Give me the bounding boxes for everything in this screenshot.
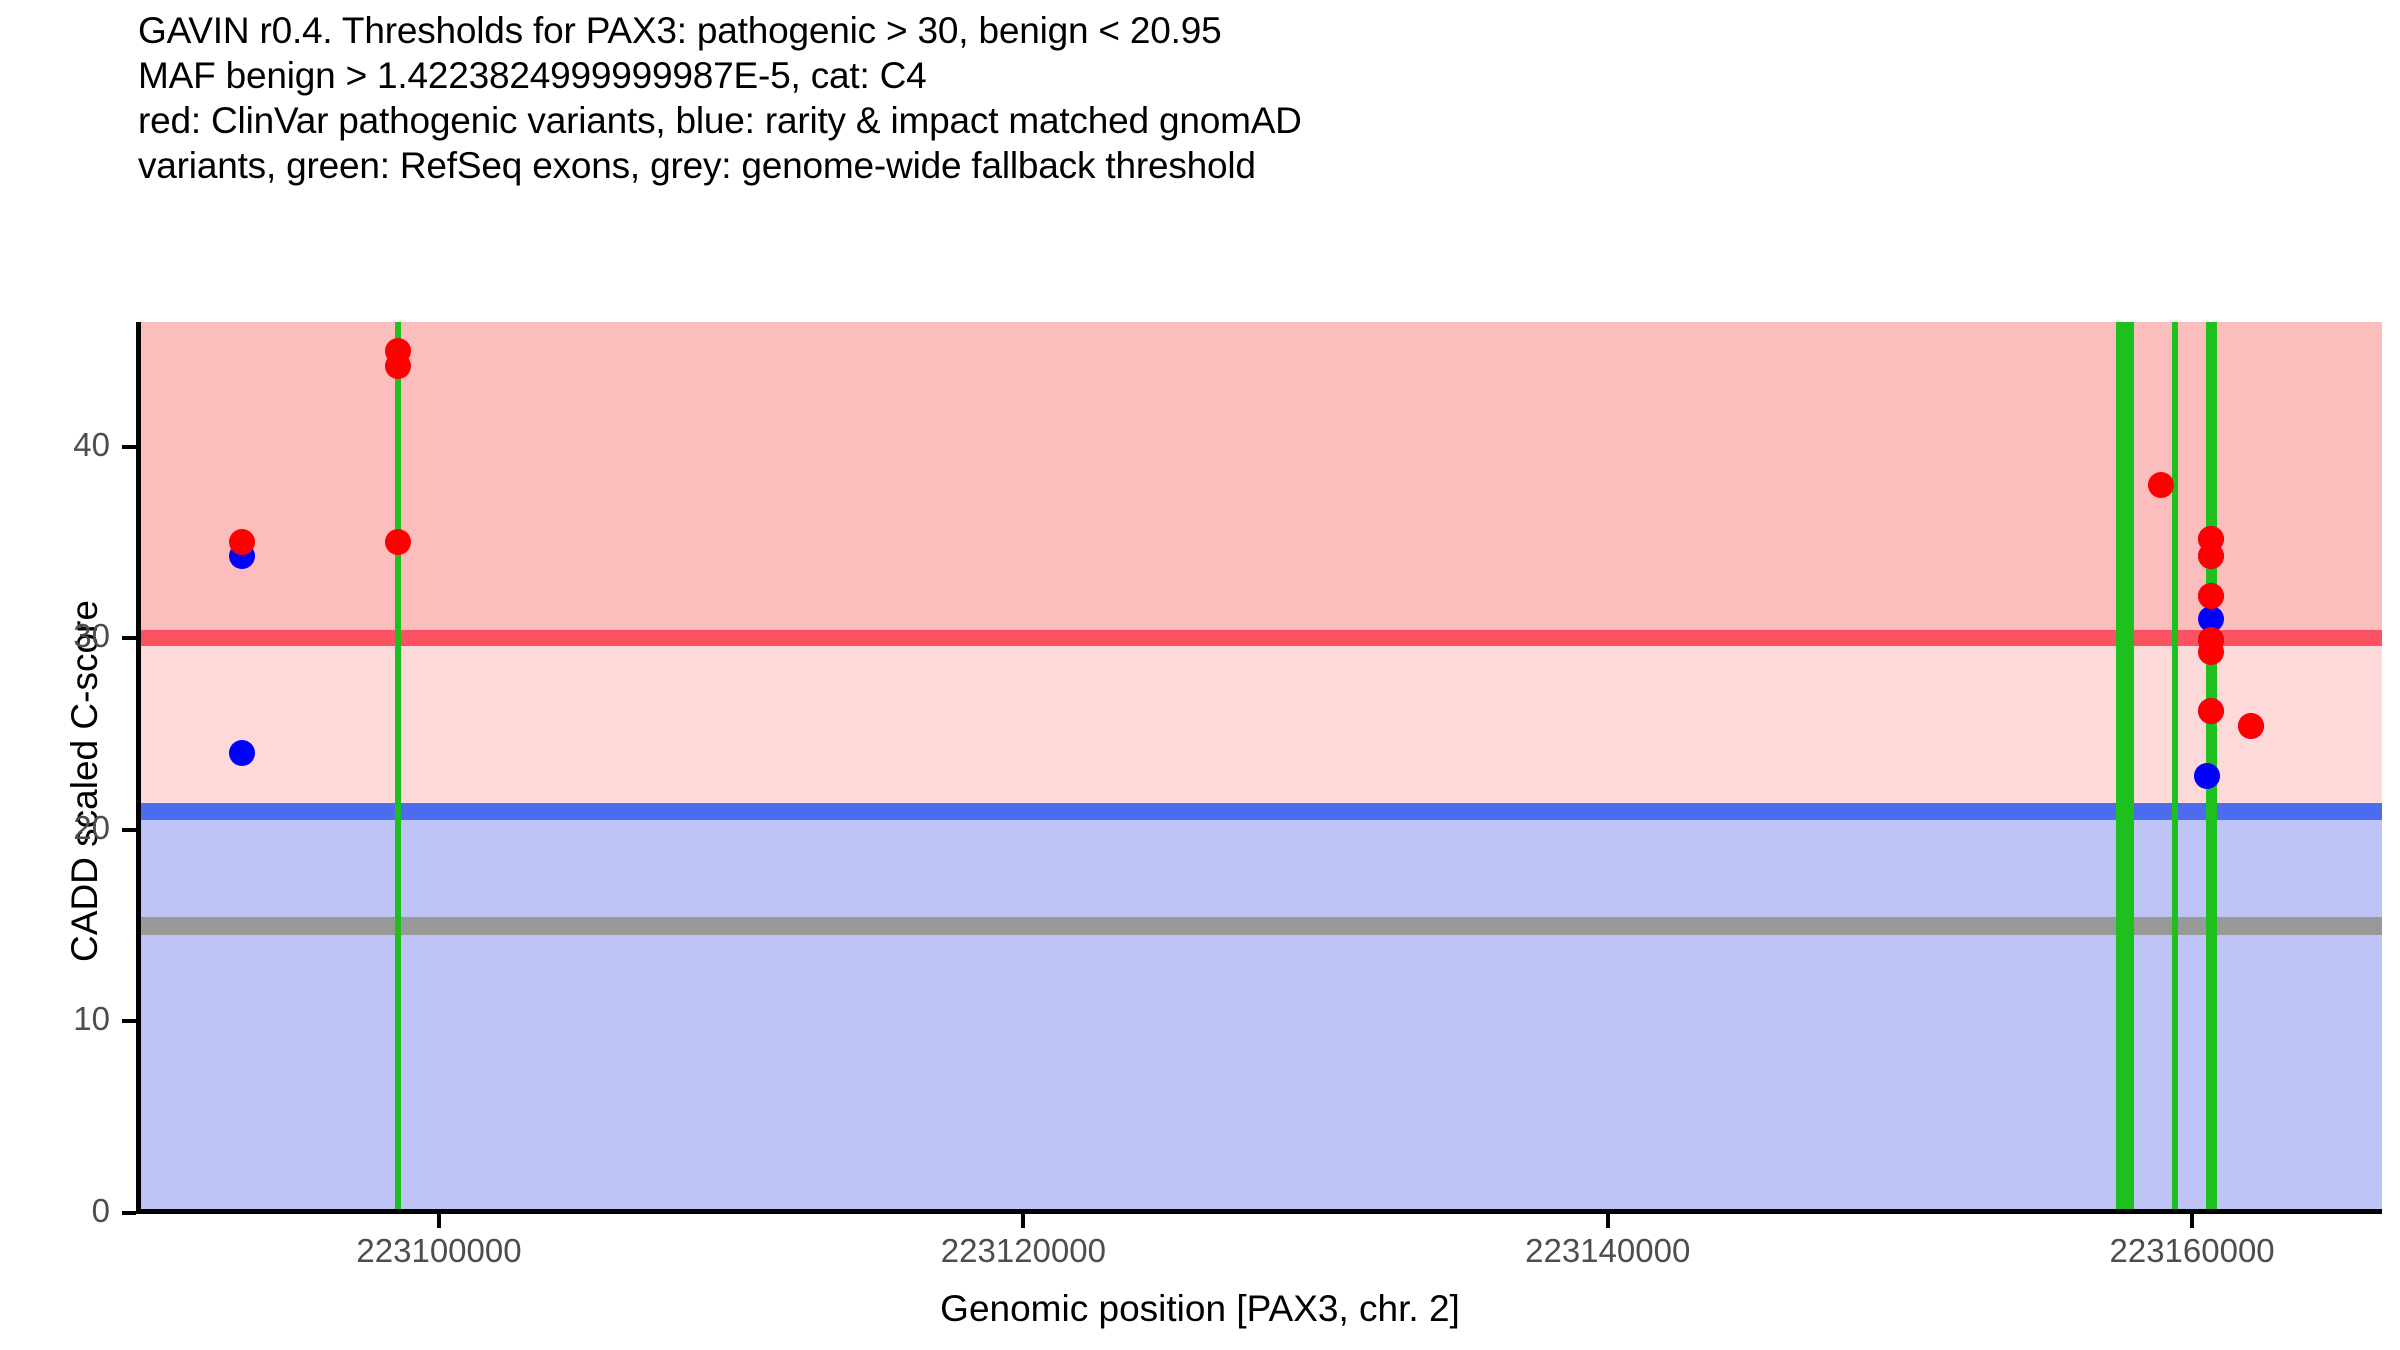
title-line-2: MAF benign > 1.4223824999999987E-5, cat:… bbox=[138, 53, 2238, 98]
y-axis-tick-label: 20 bbox=[0, 809, 110, 847]
y-axis-tick bbox=[122, 445, 136, 449]
title-line-4: variants, green: RefSeq exons, grey: gen… bbox=[138, 143, 2238, 188]
y-axis-tick-label: 10 bbox=[0, 1000, 110, 1038]
x-axis-tick-label: 223160000 bbox=[2012, 1232, 2372, 1270]
x-axis-tick bbox=[1021, 1214, 1025, 1228]
x-axis-tick bbox=[1606, 1214, 1610, 1228]
x-axis-title: Genomic position [PAX3, chr. 2] bbox=[0, 1288, 2400, 1330]
x-axis-tick-label: 223140000 bbox=[1428, 1232, 1788, 1270]
exon-2 bbox=[2116, 322, 2134, 1213]
intermediate-zone bbox=[141, 638, 2382, 811]
y-axis-spine bbox=[136, 322, 141, 1214]
y-axis-tick-label: 30 bbox=[0, 617, 110, 655]
y-axis-title: CADD scaled C-score bbox=[64, 341, 106, 1221]
plot-panel bbox=[141, 322, 2382, 1213]
pathogenic-variant-point bbox=[2198, 639, 2224, 665]
pathogenic-variant-point bbox=[2198, 543, 2224, 569]
x-axis-tick-label: 223120000 bbox=[843, 1232, 1203, 1270]
pathogenic-variant-point bbox=[229, 529, 255, 555]
gnomad-variant-point bbox=[229, 740, 255, 766]
y-axis-tick bbox=[122, 636, 136, 640]
exon-3 bbox=[2172, 322, 2178, 1213]
genome-wide-fallback-threshold bbox=[141, 917, 2382, 935]
y-axis-tick bbox=[122, 1019, 136, 1023]
y-axis-tick bbox=[122, 828, 136, 832]
x-axis-tick-label: 223100000 bbox=[259, 1232, 619, 1270]
pathogenic-variant-point bbox=[2238, 713, 2264, 739]
x-axis-tick bbox=[2190, 1214, 2194, 1228]
gnomad-variant-point bbox=[2194, 763, 2220, 789]
pathogenic-zone bbox=[141, 322, 2382, 631]
plot-title-block: GAVIN r0.4. Thresholds for PAX3: pathoge… bbox=[138, 8, 2238, 188]
y-axis-tick bbox=[122, 1211, 136, 1215]
pathogenic-threshold bbox=[141, 630, 2382, 646]
plot-root: GAVIN r0.4. Thresholds for PAX3: pathoge… bbox=[0, 0, 2400, 1350]
title-line-1: GAVIN r0.4. Thresholds for PAX3: pathoge… bbox=[138, 8, 2238, 53]
x-axis-tick bbox=[437, 1214, 441, 1228]
benign-threshold bbox=[141, 803, 2382, 820]
title-line-3: red: ClinVar pathogenic variants, blue: … bbox=[138, 98, 2238, 143]
benign-zone bbox=[141, 813, 2382, 1213]
pathogenic-variant-point bbox=[2198, 583, 2224, 609]
pathogenic-variant-point bbox=[385, 353, 411, 379]
y-axis-tick-label: 0 bbox=[0, 1192, 110, 1230]
x-axis-spine bbox=[136, 1209, 2382, 1214]
pathogenic-variant-point bbox=[2198, 698, 2224, 724]
exon-1 bbox=[395, 322, 401, 1213]
y-axis-tick-label: 40 bbox=[0, 426, 110, 464]
